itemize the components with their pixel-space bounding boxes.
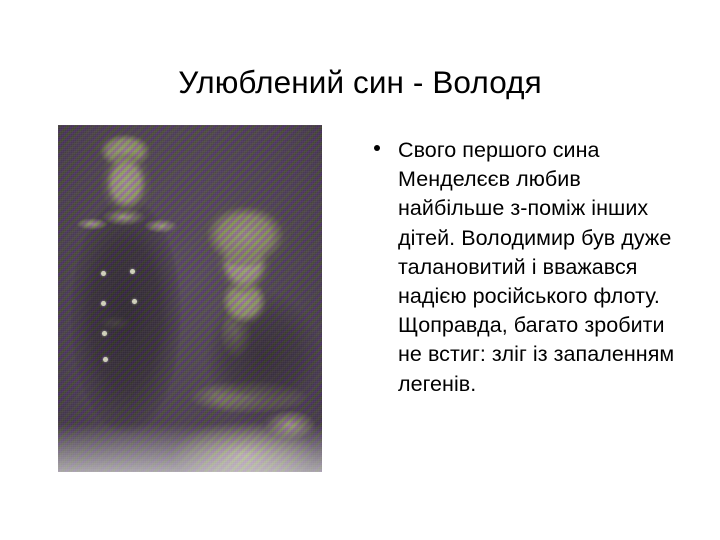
photo-fade-layer	[58, 125, 322, 472]
body-text-block: Свого першого сина Менделєєв любив найбі…	[372, 136, 684, 399]
bullet-item-text: Свого першого сина Менделєєв любив найбі…	[398, 136, 684, 399]
bullet-icon	[374, 145, 380, 151]
historical-photo[interactable]	[58, 125, 322, 472]
page-title: Улюблений син - Володя	[36, 63, 684, 101]
presentation-slide: Улюблений син - Володя Свого першого син…	[0, 0, 720, 540]
list-item[interactable]: Свого першого сина Менделєєв любив найбі…	[372, 136, 684, 399]
